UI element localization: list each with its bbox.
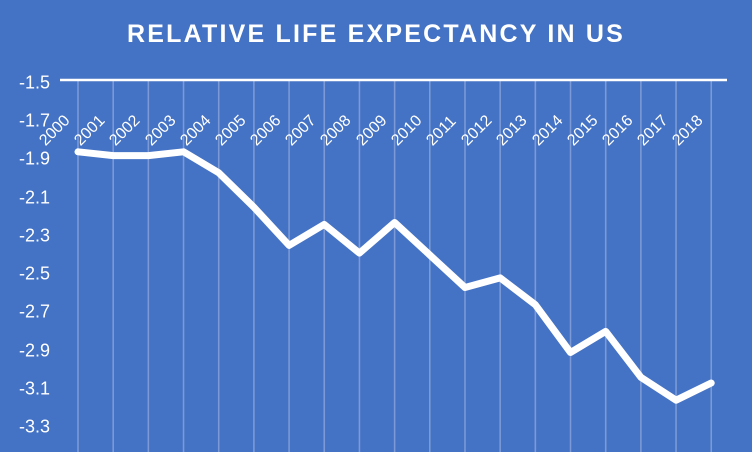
y-axis-tick-label: -2.7 bbox=[2, 302, 50, 323]
y-axis-tick-label: -1.5 bbox=[2, 73, 50, 94]
y-axis-tick-label: -1.9 bbox=[2, 149, 50, 170]
chart-container: RELATIVE LIFE EXPECTANCY IN US -1.5-1.7-… bbox=[0, 0, 752, 452]
y-axis-tick-label: -1.7 bbox=[2, 111, 50, 132]
y-axis-tick-label: -3.3 bbox=[2, 416, 50, 437]
y-axis-tick-label: -2.1 bbox=[2, 187, 50, 208]
y-axis-tick-label: -2.3 bbox=[2, 225, 50, 246]
y-axis-tick-label: -2.9 bbox=[2, 340, 50, 361]
y-axis-tick-label: -3.1 bbox=[2, 378, 50, 399]
y-axis-tick-label: -2.5 bbox=[2, 264, 50, 285]
chart-plot-area bbox=[0, 0, 752, 452]
